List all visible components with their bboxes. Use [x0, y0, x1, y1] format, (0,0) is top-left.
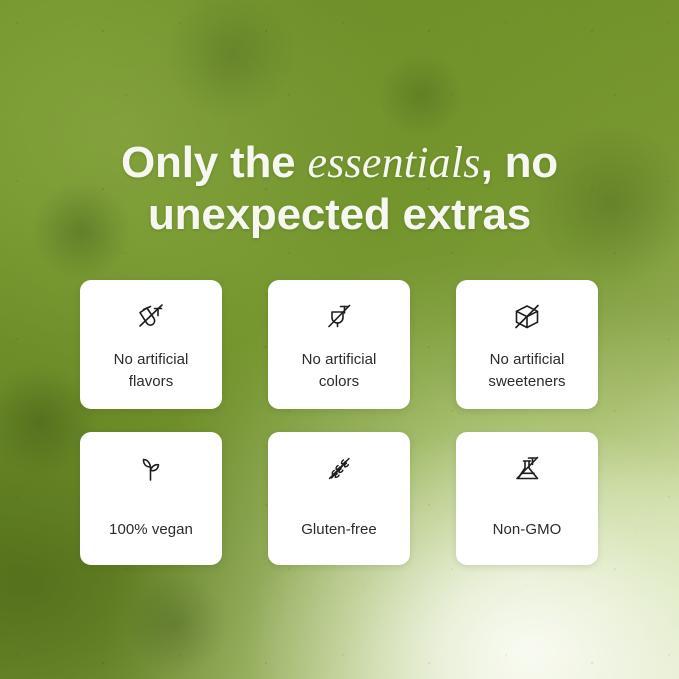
benefit-card-label: No artificial colors — [300, 349, 379, 393]
benefit-label-line1: 100% vegan — [109, 521, 193, 538]
benefit-card-label: Gluten-free — [299, 519, 379, 541]
benefit-card-label: Non-GMO — [491, 519, 564, 541]
benefits-grid: No artificial flavors No artificial colo… — [80, 280, 598, 565]
benefit-label-line1: Gluten-free — [301, 521, 377, 538]
benefit-card-100-percent-vegan: 100% vegan — [80, 432, 222, 565]
benefit-card-no-artificial-sweeteners: No artificial sweeteners — [456, 280, 598, 409]
benefit-label-line2: flavors — [129, 373, 174, 390]
no-flask-icon — [507, 448, 547, 494]
no-dropper-icon — [319, 296, 359, 342]
benefit-label-line1: No artificial — [302, 351, 377, 368]
promo-poster: Only the essentials, no unexpected extra… — [0, 0, 679, 679]
benefit-label-line1: No artificial — [114, 351, 189, 368]
no-test-tube-icon — [131, 296, 171, 342]
page-title: Only the essentials, no unexpected extra… — [0, 137, 679, 241]
heading-text-lead: Only the — [121, 138, 307, 187]
sprout-icon — [131, 448, 171, 494]
benefit-label-line2: sweeteners — [488, 373, 565, 390]
benefit-label-line1: Non-GMO — [493, 521, 562, 538]
benefit-card-no-artificial-flavors: No artificial flavors — [80, 280, 222, 409]
heading-emphasis: essentials — [307, 138, 480, 187]
benefit-card-non-gmo: Non-GMO — [456, 432, 598, 565]
benefit-label-line1: No artificial — [490, 351, 565, 368]
no-wheat-icon — [319, 448, 359, 494]
benefit-card-no-artificial-colors: No artificial colors — [268, 280, 410, 409]
benefit-card-label: No artificial sweeteners — [486, 349, 567, 393]
benefit-card-gluten-free: Gluten-free — [268, 432, 410, 565]
benefit-card-label: No artificial flavors — [112, 349, 191, 393]
benefit-label-line2: colors — [319, 373, 359, 390]
benefit-card-label: 100% vegan — [107, 519, 195, 541]
no-sugar-cube-icon — [507, 296, 547, 342]
